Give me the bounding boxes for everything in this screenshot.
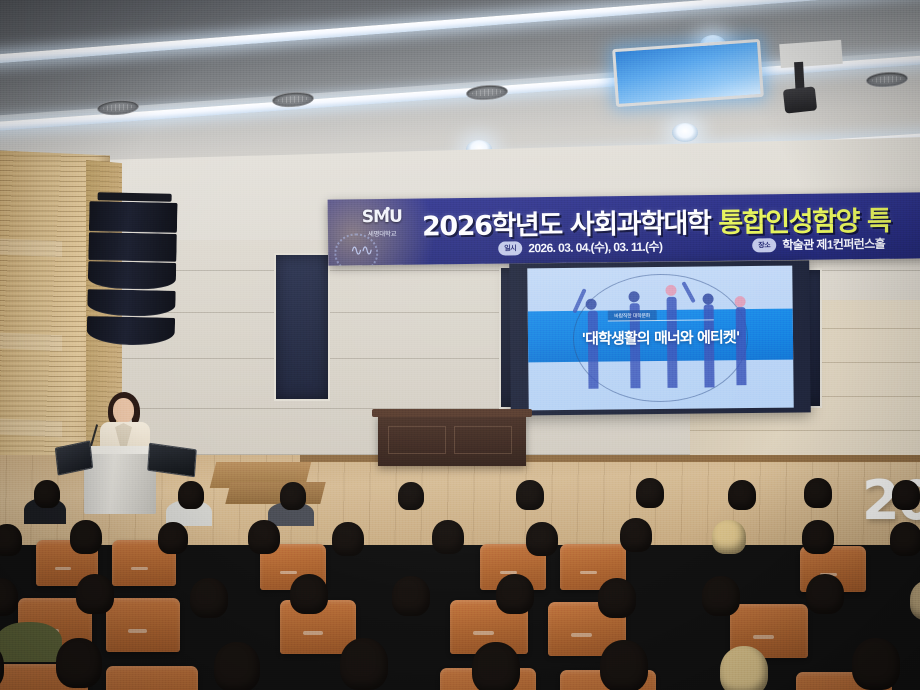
date-pill: 일시 (498, 241, 522, 255)
presentation-slide: 바람직한 대학문화 '대학생활의 매너와 에티켓' (527, 266, 793, 411)
place-pill: 장소 (752, 238, 776, 252)
banner-date-text: 2026. 03. 04.(수), 03. 11.(수) (528, 238, 662, 257)
projector-mount (779, 40, 843, 68)
banner-title-main: 2026학년도 사회과학대학 (422, 208, 711, 243)
speaker-array-icon (86, 199, 177, 351)
projection-screen: 바람직한 대학문화 '대학생활의 매너와 에티켓' (509, 260, 811, 415)
slide-title: '대학생활의 매너와 에티켓' (528, 325, 793, 349)
logo-wordmark: SMU (350, 209, 414, 227)
spotlight-icon (672, 123, 698, 142)
banner-place-text: 학술관 제1컨퍼런스홀 (782, 235, 885, 253)
projector-icon (783, 86, 817, 113)
banner-date-line: 일시 2026. 03. 04.(수), 03. 11.(수) (498, 238, 662, 257)
banner-title-highlight: 통합인성함양 특 (718, 206, 890, 239)
university-logo: SMU 세명대학교 (350, 209, 414, 239)
presenter-head (113, 398, 134, 423)
ceiling-display-panel (612, 39, 764, 107)
banner-place-line: 장소 학술관 제1컨퍼런스홀 (752, 235, 885, 254)
acoustic-panel (274, 253, 330, 401)
audience-area (0, 470, 920, 690)
stage-table (378, 414, 526, 466)
auditorium-photo: SMU 세명대학교 ∿∿ 2026학년도 사회과학대학 통합인성함양 특 일시 … (0, 0, 920, 690)
logo-korean-name: 세명대학교 (350, 228, 414, 239)
wave-graphic: ∿∿ (350, 243, 371, 258)
event-banner: SMU 세명대학교 ∿∿ 2026학년도 사회과학대학 통합인성함양 특 일시 … (328, 192, 920, 265)
logo-dot (386, 207, 390, 211)
